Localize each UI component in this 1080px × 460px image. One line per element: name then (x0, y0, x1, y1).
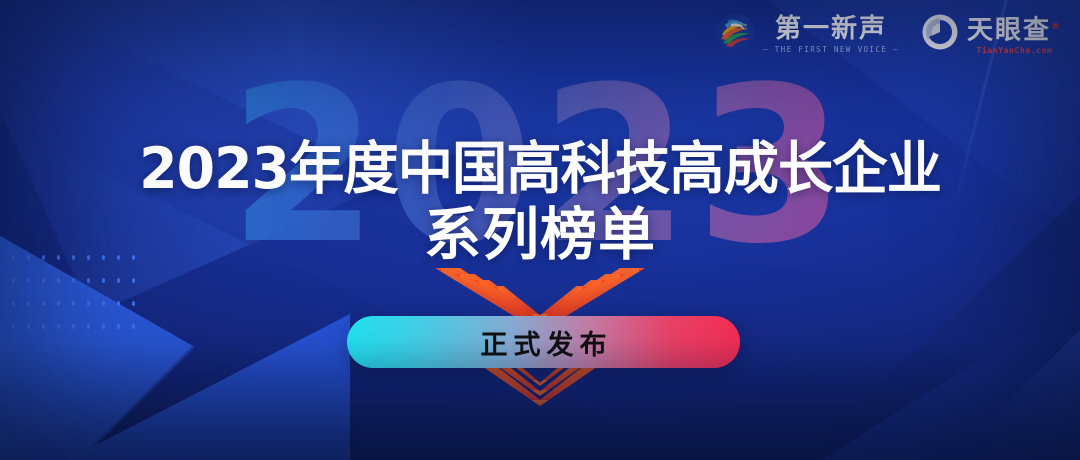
vignette-overlay (0, 0, 1080, 460)
poster-canvas: 2023 2023年度中国高科技高成长企业 系列榜单 正式发布 (0, 0, 1080, 460)
